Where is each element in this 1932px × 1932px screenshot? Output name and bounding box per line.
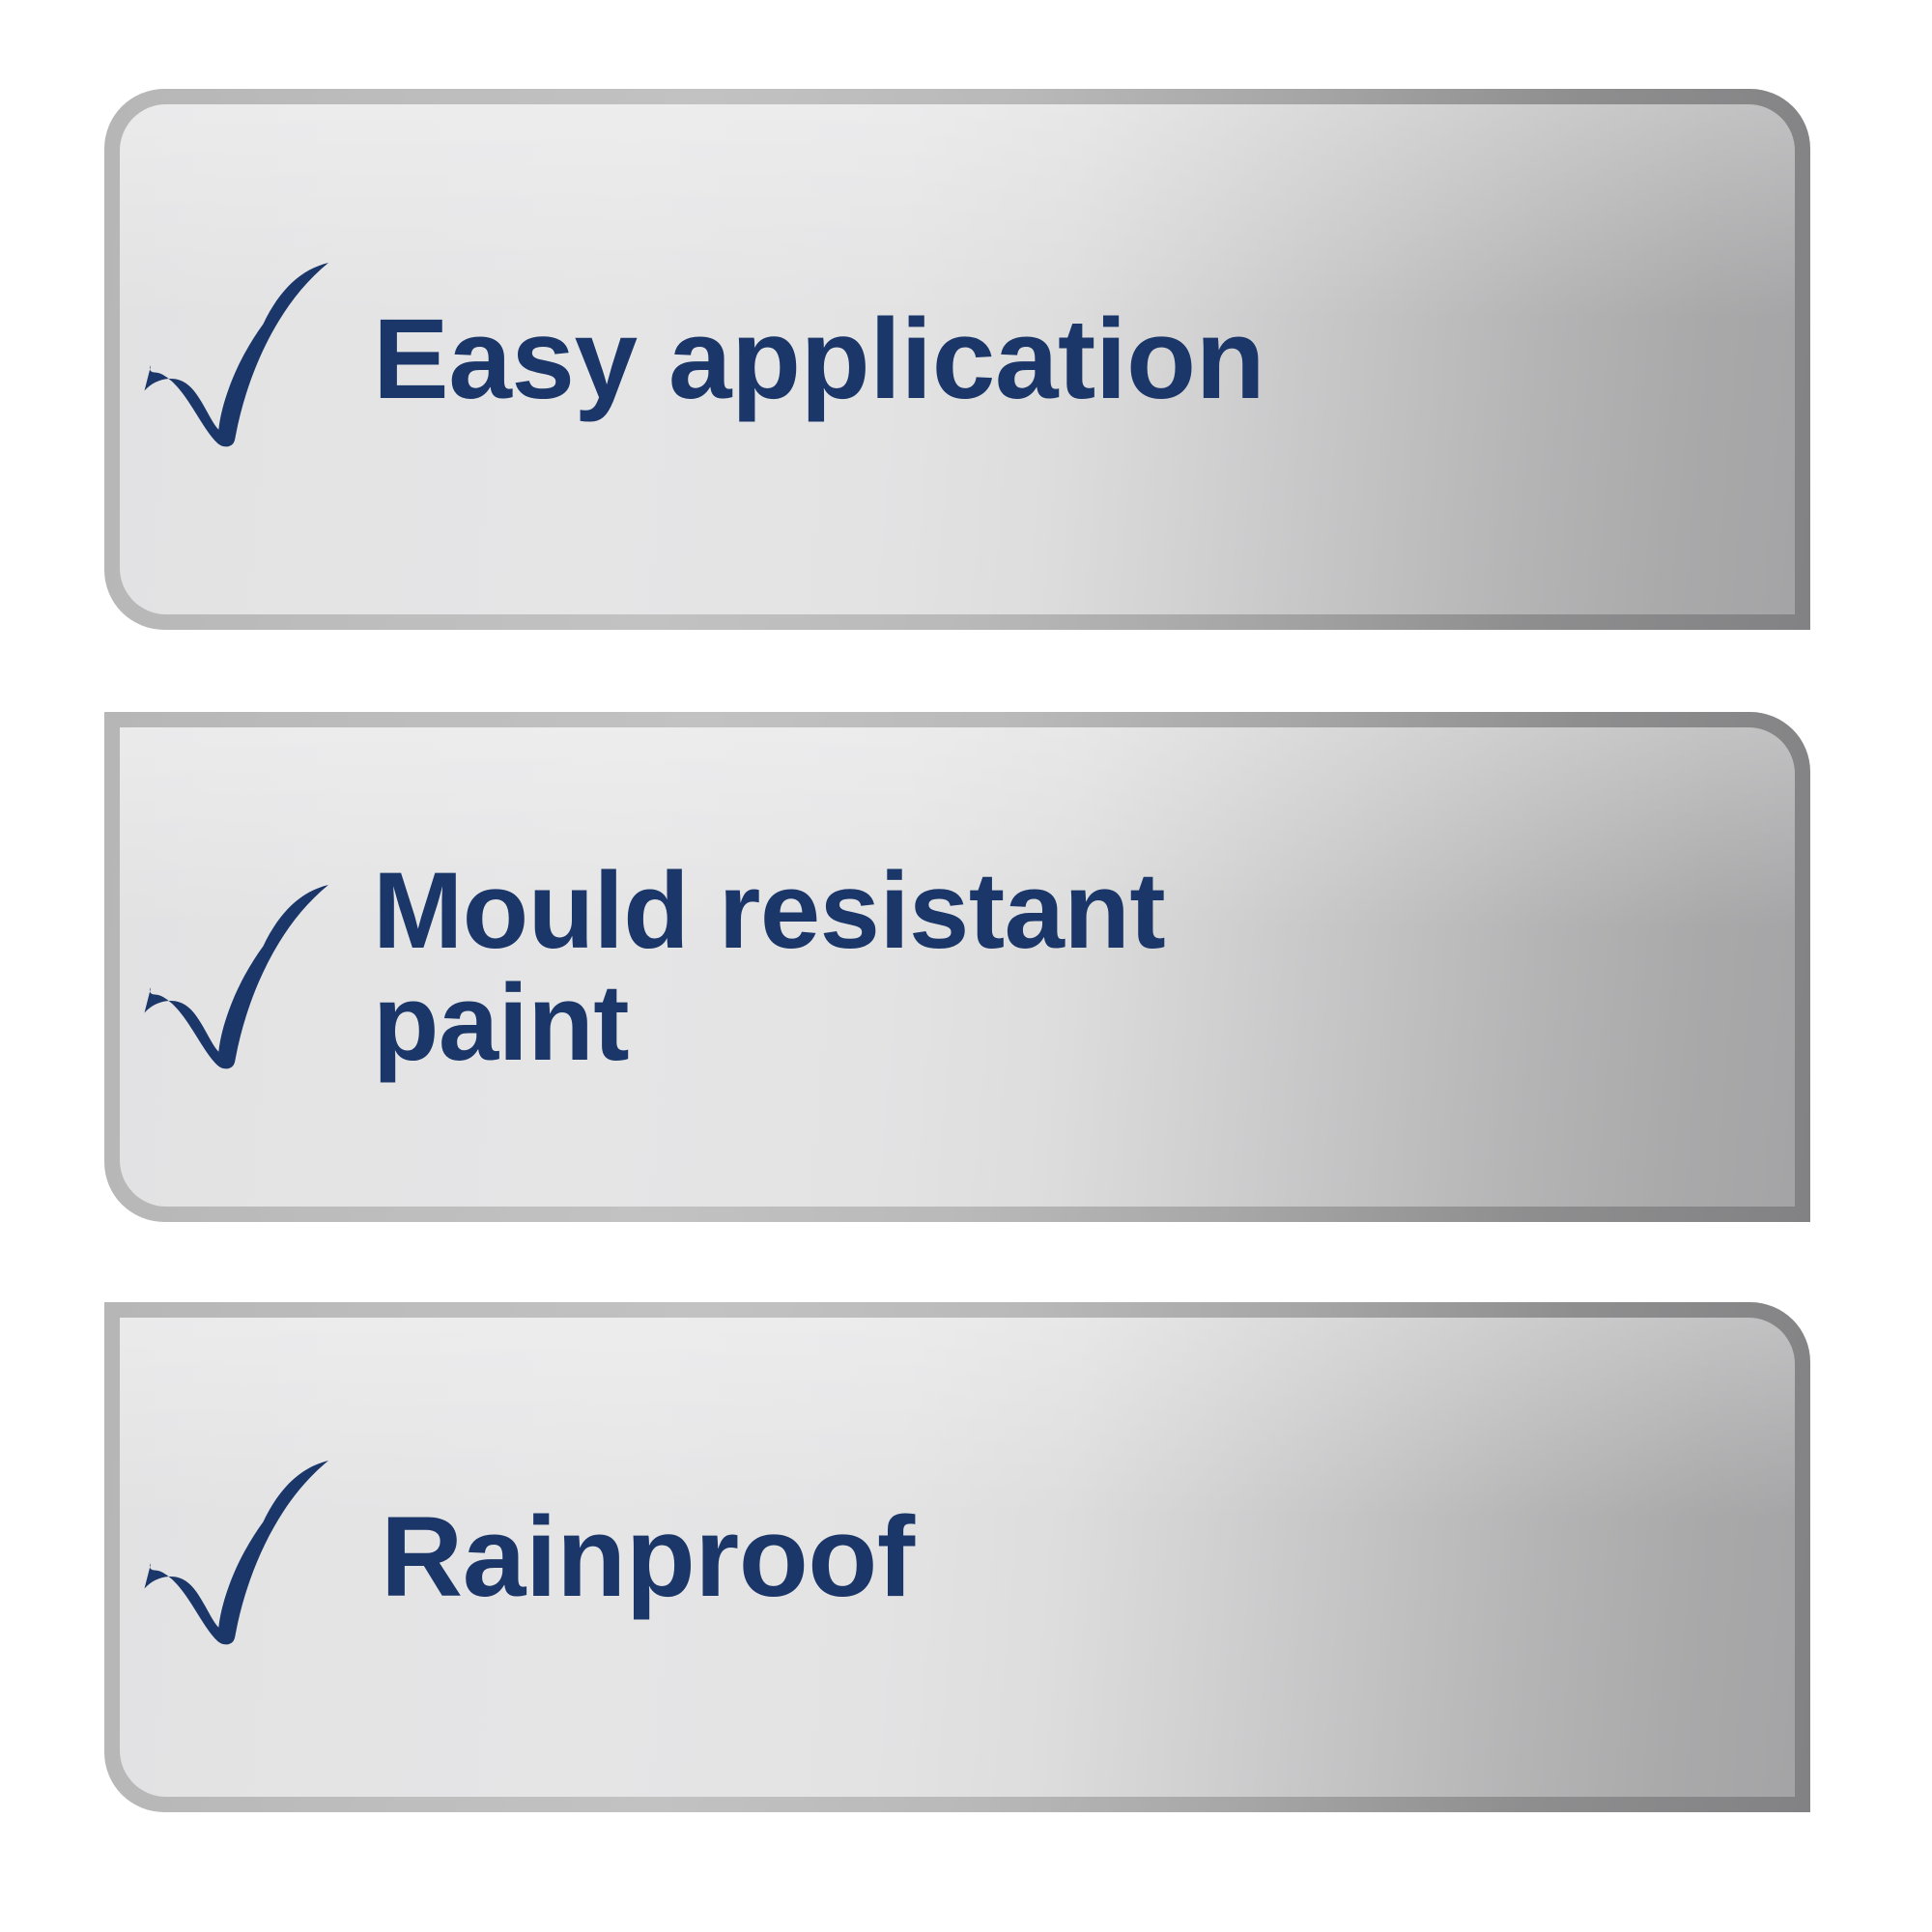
benefit-badge-mould-resistant-paint[interactable]: Mould resistant paint [104,712,1810,1222]
badge-face: Rainproof [120,1318,1795,1797]
checkmark-icon [141,263,363,456]
badge-face: Mould resistant paint [120,727,1795,1207]
badge-row: Rainproof [120,1318,1795,1797]
benefit-badge-rainproof[interactable]: Rainproof [104,1302,1810,1812]
badge-face: Easy application [120,104,1795,614]
badge-label: Easy application [373,300,1795,419]
badge-label: Rainproof [381,1498,1795,1617]
checkmark-icon [141,1461,363,1654]
badge-row: Easy application [120,104,1795,614]
badge-label: Mould resistant paint [373,855,1795,1080]
badge-row: Mould resistant paint [120,727,1795,1207]
benefit-badge-easy-application[interactable]: Easy application [104,89,1810,630]
badge-stack: Easy application Mould resistant paint [0,0,1932,1932]
checkmark-icon [141,885,363,1078]
